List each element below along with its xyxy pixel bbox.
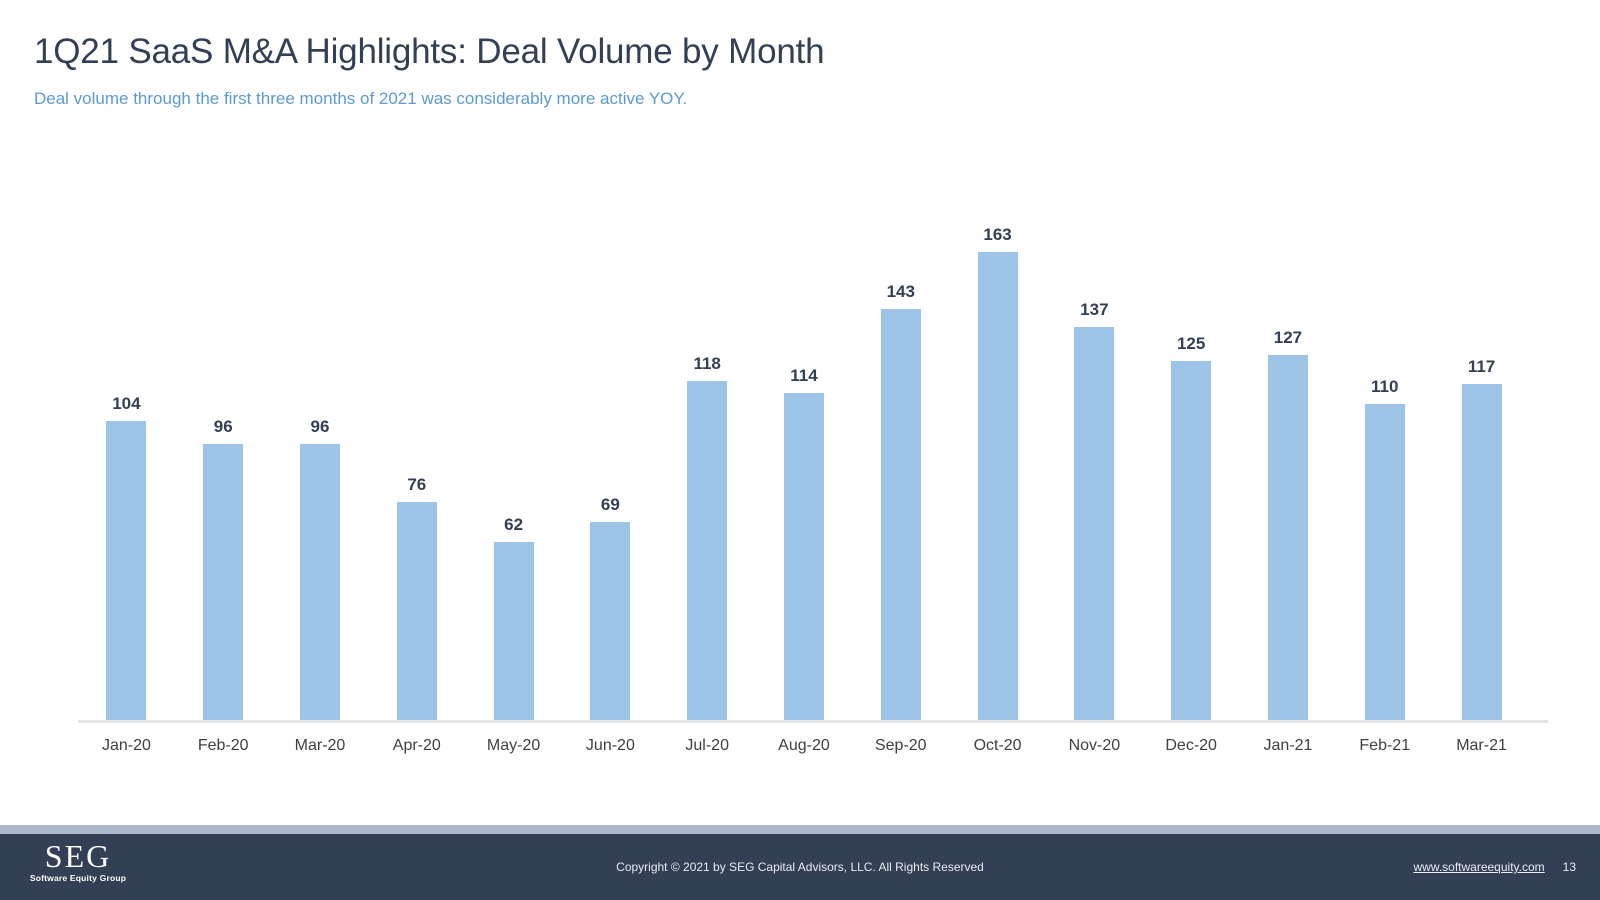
bar-column[interactable]: 110 bbox=[1336, 160, 1433, 720]
x-axis-tick-label: Apr-20 bbox=[368, 726, 465, 755]
x-axis-tick-label: Feb-21 bbox=[1336, 726, 1433, 755]
bar-value-label: 110 bbox=[1371, 378, 1398, 395]
bar-rect[interactable] bbox=[397, 502, 437, 720]
logo-wordmark: SEG bbox=[18, 839, 138, 873]
bar-rect[interactable] bbox=[1268, 355, 1308, 720]
bar-rect[interactable] bbox=[1171, 361, 1211, 720]
x-axis-tick-label: Jan-20 bbox=[78, 726, 175, 755]
chart-plot-area: 1049696766269118114143163137125127110117… bbox=[78, 160, 1530, 723]
footer-accent-strip bbox=[0, 825, 1600, 834]
x-axis-tick-label: Oct-20 bbox=[949, 726, 1046, 755]
bar-series: 1049696766269118114143163137125127110117 bbox=[78, 160, 1530, 720]
bar-value-label: 127 bbox=[1274, 329, 1302, 346]
bar-value-label: 96 bbox=[311, 418, 330, 435]
bar-column[interactable]: 104 bbox=[78, 160, 175, 720]
website-link[interactable]: www.softwareequity.com bbox=[1413, 860, 1544, 874]
bar-column[interactable]: 127 bbox=[1240, 160, 1337, 720]
bar-column[interactable]: 117 bbox=[1433, 160, 1530, 720]
bar-value-label: 96 bbox=[214, 418, 233, 435]
bar-value-label: 163 bbox=[983, 226, 1011, 243]
copyright-text: Copyright © 2021 by SEG Capital Advisors… bbox=[0, 834, 1600, 900]
x-axis-tick-label: Feb-20 bbox=[175, 726, 272, 755]
x-axis-tick-label: Jul-20 bbox=[659, 726, 756, 755]
bar-column[interactable]: 137 bbox=[1046, 160, 1143, 720]
bar-chart: 1049696766269118114143163137125127110117… bbox=[60, 160, 1550, 770]
footer-right-group: www.softwareequity.com 13 bbox=[1413, 834, 1576, 900]
x-axis-tick-label: Dec-20 bbox=[1143, 726, 1240, 755]
bar-value-label: 76 bbox=[407, 476, 426, 493]
x-axis-tick-label: Nov-20 bbox=[1046, 726, 1143, 755]
bar-value-label: 104 bbox=[112, 395, 140, 412]
bar-rect[interactable] bbox=[494, 542, 534, 720]
bar-rect[interactable] bbox=[300, 444, 340, 720]
bar-value-label: 69 bbox=[601, 496, 620, 513]
bar-rect[interactable] bbox=[784, 393, 824, 720]
bar-column[interactable]: 143 bbox=[852, 160, 949, 720]
page-number: 13 bbox=[1563, 860, 1576, 874]
bar-rect[interactable] bbox=[106, 421, 146, 720]
x-axis-tick-label: Mar-20 bbox=[272, 726, 369, 755]
bar-column[interactable]: 114 bbox=[756, 160, 853, 720]
bar-column[interactable]: 76 bbox=[368, 160, 465, 720]
x-axis-line bbox=[78, 720, 1548, 723]
bar-value-label: 118 bbox=[693, 355, 720, 372]
bar-rect[interactable] bbox=[881, 309, 921, 720]
bar-column[interactable]: 118 bbox=[659, 160, 756, 720]
seg-logo: SEG Software Equity Group bbox=[18, 839, 138, 884]
bar-value-label: 137 bbox=[1080, 301, 1108, 318]
x-axis-tick-label: Mar-21 bbox=[1433, 726, 1530, 755]
x-axis-tick-label: May-20 bbox=[465, 726, 562, 755]
bar-rect[interactable] bbox=[1074, 327, 1114, 720]
bar-value-label: 117 bbox=[1468, 358, 1495, 375]
bar-rect[interactable] bbox=[1365, 404, 1405, 720]
bar-rect[interactable] bbox=[590, 522, 630, 720]
x-axis-tick-label: Jun-20 bbox=[562, 726, 659, 755]
bar-rect[interactable] bbox=[1462, 384, 1502, 720]
bar-value-label: 114 bbox=[790, 367, 817, 384]
bar-column[interactable]: 163 bbox=[949, 160, 1046, 720]
slide: 1Q21 SaaS M&A Highlights: Deal Volume by… bbox=[0, 0, 1600, 900]
footer: SEG Software Equity Group Copyright © 20… bbox=[0, 834, 1600, 900]
bar-column[interactable]: 96 bbox=[272, 160, 369, 720]
bar-value-label: 125 bbox=[1177, 335, 1205, 352]
x-axis-labels: Jan-20Feb-20Mar-20Apr-20May-20Jun-20Jul-… bbox=[78, 726, 1530, 755]
x-axis-tick-label: Jan-21 bbox=[1240, 726, 1337, 755]
bar-column[interactable]: 69 bbox=[562, 160, 659, 720]
page-subtitle: Deal volume through the first three mont… bbox=[34, 89, 687, 109]
bar-rect[interactable] bbox=[203, 444, 243, 720]
bar-rect[interactable] bbox=[687, 381, 727, 720]
logo-tagline: Software Equity Group bbox=[18, 873, 138, 884]
bar-value-label: 143 bbox=[887, 283, 915, 300]
bar-rect[interactable] bbox=[978, 252, 1018, 720]
bar-value-label: 62 bbox=[504, 516, 523, 533]
page-title: 1Q21 SaaS M&A Highlights: Deal Volume by… bbox=[34, 32, 824, 72]
x-axis-tick-label: Aug-20 bbox=[756, 726, 853, 755]
bar-column[interactable]: 125 bbox=[1143, 160, 1240, 720]
x-axis-tick-label: Sep-20 bbox=[852, 726, 949, 755]
bar-column[interactable]: 96 bbox=[175, 160, 272, 720]
bar-column[interactable]: 62 bbox=[465, 160, 562, 720]
